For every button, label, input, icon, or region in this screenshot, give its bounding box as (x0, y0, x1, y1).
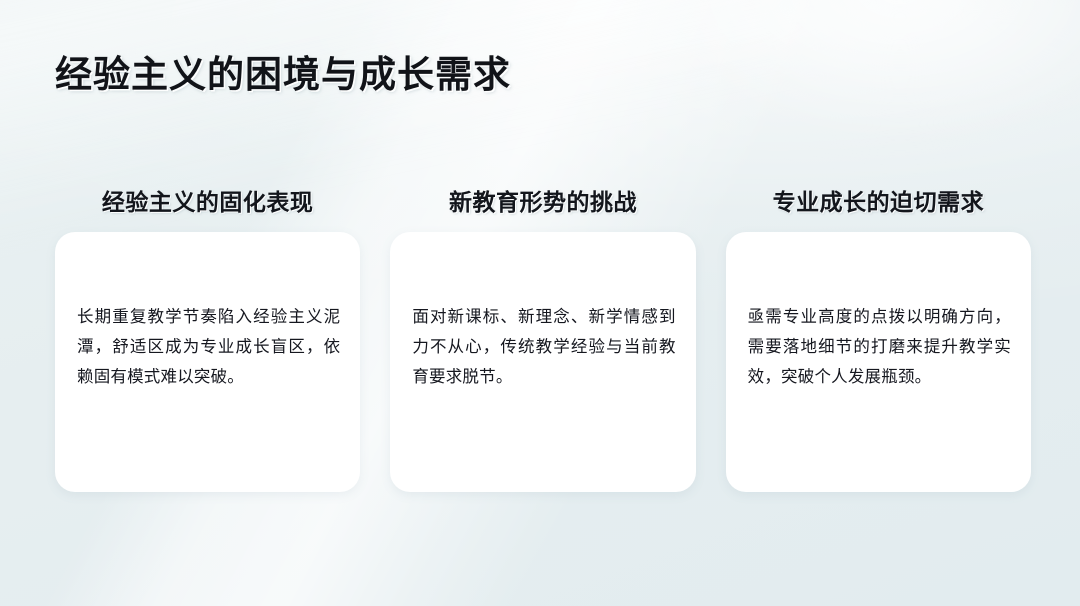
column-heading: 经验主义的固化表现 (55, 186, 360, 232)
slide-canvas: 经验主义的困境与成长需求 经验主义的固化表现 长期重复教学节奏陷入经验主义泥潭，… (0, 0, 1080, 606)
card-row: 经验主义的固化表现 长期重复教学节奏陷入经验主义泥潭，舒适区成为专业成长盲区，依… (55, 186, 1031, 492)
column-heading: 新教育形势的挑战 (390, 186, 695, 232)
card-body-text: 亟需专业高度的点拨以明确方向，需要落地细节的打磨来提升教学实效，突破个人发展瓶颈… (748, 302, 1011, 392)
column-empiricism-fixation: 经验主义的固化表现 长期重复教学节奏陷入经验主义泥潭，舒适区成为专业成长盲区，依… (55, 186, 360, 492)
background-glow-decoration (640, 0, 1080, 140)
page-title: 经验主义的困境与成长需求 (55, 44, 511, 98)
content-card: 长期重复教学节奏陷入经验主义泥潭，舒适区成为专业成长盲区，依赖固有模式难以突破。 (55, 232, 360, 492)
column-new-education-challenge: 新教育形势的挑战 面对新课标、新理念、新学情感到力不从心，传统教学经验与当前教育… (390, 186, 695, 492)
content-card: 亟需专业高度的点拨以明确方向，需要落地细节的打磨来提升教学实效，突破个人发展瓶颈… (726, 232, 1031, 492)
content-card: 面对新课标、新理念、新学情感到力不从心，传统教学经验与当前教育要求脱节。 (390, 232, 695, 492)
card-body-text: 长期重复教学节奏陷入经验主义泥潭，舒适区成为专业成长盲区，依赖固有模式难以突破。 (77, 302, 340, 392)
column-professional-growth-need: 专业成长的迫切需求 亟需专业高度的点拨以明确方向，需要落地细节的打磨来提升教学实… (726, 186, 1031, 492)
column-heading: 专业成长的迫切需求 (726, 186, 1031, 232)
card-body-text: 面对新课标、新理念、新学情感到力不从心，传统教学经验与当前教育要求脱节。 (412, 302, 675, 392)
